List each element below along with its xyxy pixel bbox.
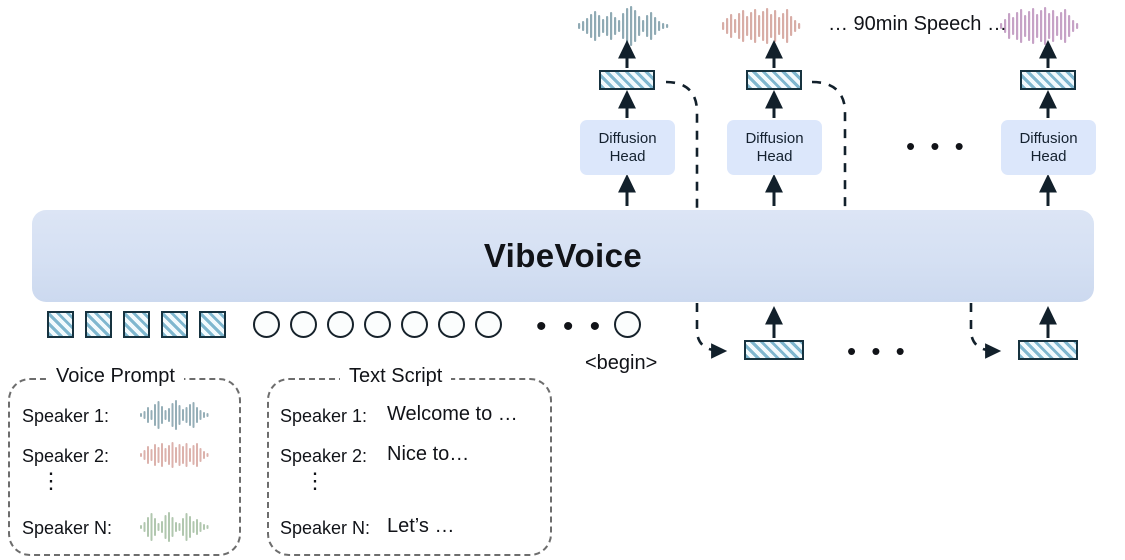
text-script-speaker-1-text: Welcome to … <box>387 403 518 426</box>
text-script-speaker-n-label: Speaker N: <box>280 518 370 539</box>
vibevoice-model-bar: VibeVoice <box>32 210 1094 302</box>
output-waveform-3 <box>1000 7 1078 45</box>
output-latent-token-1 <box>599 70 655 90</box>
begin-token-label: <begin> <box>585 352 657 375</box>
diffusion-head-label-line2: Head <box>610 148 646 166</box>
diffusion-head-ellipsis: • • • <box>906 133 968 159</box>
diffusion-head-label-line1: Diffusion <box>598 130 656 148</box>
output-waveform-1 <box>578 6 668 46</box>
output-waveform-2 <box>722 8 800 44</box>
text-token-6 <box>438 311 465 338</box>
voice-prompt-title: Voice Prompt <box>47 365 184 388</box>
text-script-speaker-2-label: Speaker 2: <box>280 446 367 467</box>
output-latent-token-3 <box>1020 70 1076 90</box>
acoustic-token-1 <box>47 311 74 338</box>
diffusion-head-label-line1: Diffusion <box>1019 130 1077 148</box>
diffusion-head-1[interactable]: Diffusion Head <box>580 120 675 175</box>
text-token-7 <box>475 311 502 338</box>
text-token-4 <box>364 311 391 338</box>
generated-latent-token-2 <box>1018 340 1078 360</box>
acoustic-token-3 <box>123 311 150 338</box>
generated-latent-ellipsis: • • • <box>847 338 909 364</box>
speech-duration-caption: … 90min Speech … <box>828 13 1007 36</box>
page-title: VibeVoice <box>484 237 642 275</box>
text-token-ellipsis: • • • <box>536 312 604 342</box>
text-script-speaker-1-label: Speaker 1: <box>280 406 367 427</box>
text-script-vertical-ellipsis: ⋮ <box>304 478 324 484</box>
generated-latent-token-1 <box>744 340 804 360</box>
voice-prompt-vertical-ellipsis: ⋮ <box>40 478 60 484</box>
acoustic-token-2 <box>85 311 112 338</box>
text-token-2 <box>290 311 317 338</box>
diagram-canvas: … 90min Speech … Diffusion Head Diffusio… <box>0 0 1125 560</box>
diffusion-head-3[interactable]: Diffusion Head <box>1001 120 1096 175</box>
acoustic-token-4 <box>161 311 188 338</box>
diffusion-head-label-line1: Diffusion <box>745 130 803 148</box>
diffusion-head-2[interactable]: Diffusion Head <box>727 120 822 175</box>
feedback-route-2-tail <box>971 303 996 351</box>
begin-token <box>614 311 641 338</box>
text-token-1 <box>253 311 280 338</box>
text-script-title: Text Script <box>340 365 451 388</box>
voice-prompt-speaker-2-label: Speaker 2: <box>22 446 109 467</box>
voice-prompt-speaker-1-label: Speaker 1: <box>22 406 109 427</box>
acoustic-token-5 <box>199 311 226 338</box>
diffusion-head-label-line2: Head <box>1031 148 1067 166</box>
text-token-5 <box>401 311 428 338</box>
text-script-speaker-2-text: Nice to… <box>387 443 469 466</box>
voice-prompt-speaker-n-label: Speaker N: <box>22 518 112 539</box>
feedback-route-1-tail <box>697 303 722 351</box>
text-script-speaker-n-text: Let’s … <box>387 515 454 538</box>
output-latent-token-2 <box>746 70 802 90</box>
text-token-3 <box>327 311 354 338</box>
diffusion-head-label-line2: Head <box>757 148 793 166</box>
